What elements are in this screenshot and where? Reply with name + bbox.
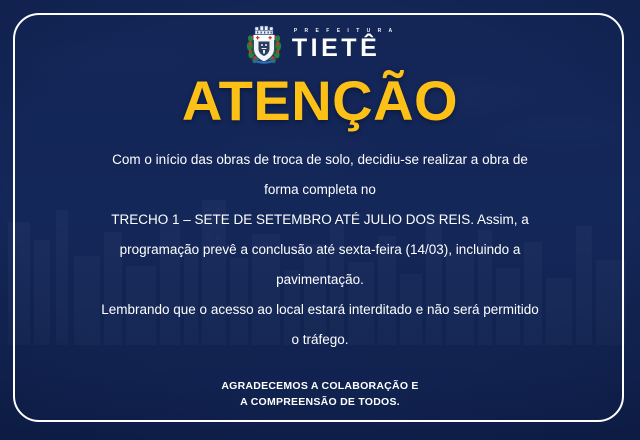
prefeitura-brand-lockup: P R E F E I T U R A TIETÊ — [245, 24, 395, 66]
brand-name-text: TIETÊ — [292, 36, 395, 61]
body-line: programação prevê a conclusão até sexta-… — [40, 235, 600, 265]
tiete-coat-of-arms-icon — [245, 25, 283, 65]
footer-line: AGRADECEMOS A COLABORAÇÃO E — [0, 378, 640, 394]
footer-line: A COMPREENSÃO DE TODOS. — [0, 394, 640, 410]
page-title: ATENÇÃO — [182, 72, 458, 131]
body-line: TRECHO 1 – SETE DE SETEMBRO ATÉ JULIO DO… — [40, 205, 600, 235]
body-line: o tráfego. — [40, 325, 600, 355]
body-line: Com o início das obras de troca de solo,… — [40, 145, 600, 175]
body-line: pavimentação. — [40, 265, 600, 295]
announcement-footer: AGRADECEMOS A COLABORAÇÃO E A COMPREENSÃ… — [0, 378, 640, 410]
body-line: Lembrando que o acesso ao local estará i… — [40, 295, 600, 325]
body-line: forma completa no — [40, 175, 600, 205]
announcement-poster: P R E F E I T U R A TIETÊ ATENÇÃO Com o … — [0, 0, 640, 440]
brand-kicker-text: P R E F E I T U R A — [294, 29, 395, 34]
announcement-body: Com o início das obras de troca de solo,… — [40, 145, 600, 355]
